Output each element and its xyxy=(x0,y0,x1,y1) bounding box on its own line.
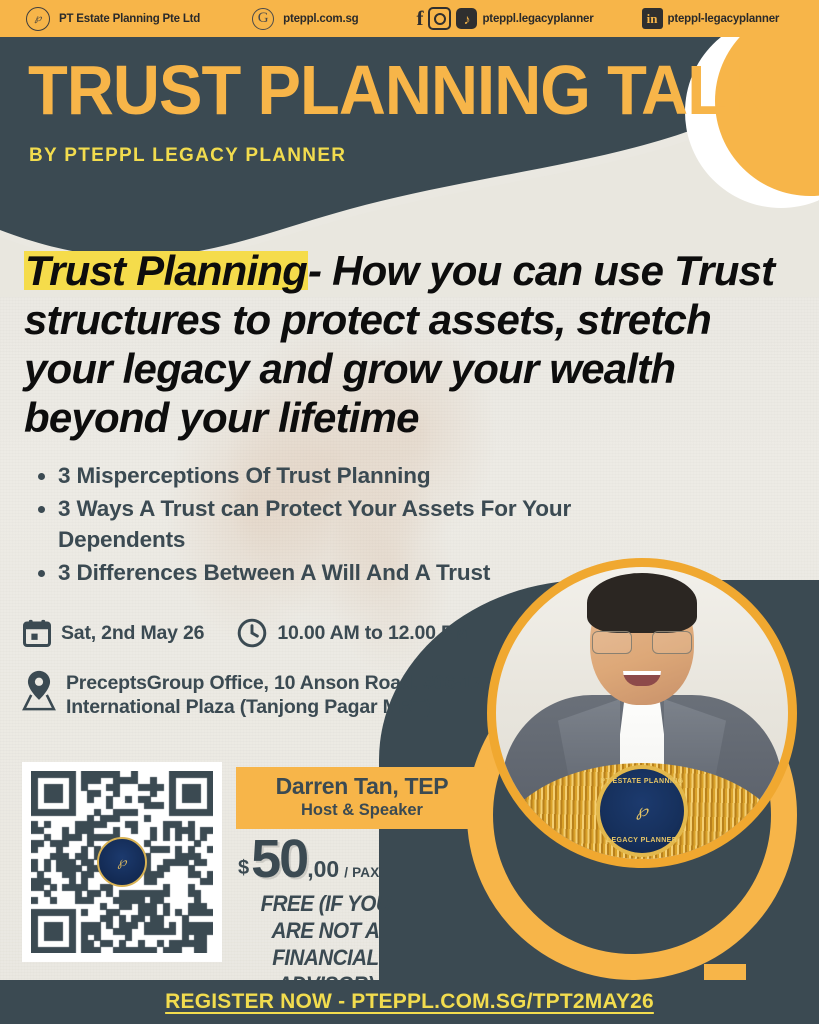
price-cents: ,00 xyxy=(307,858,339,886)
event-venue: PreceptsGroup Office, 10 Anson Road, #06… xyxy=(66,668,488,719)
price-currency: $ xyxy=(238,858,249,886)
speaker-photo: PT ESTATE PLANNING ℘ LEGACY PLANNER xyxy=(487,558,797,868)
social-item-linkedin[interactable]: in pteppl-legacyplanner xyxy=(642,8,780,29)
speaker-name-box: Darren Tan, TEP Host & Speaker xyxy=(236,767,488,829)
event-venue-line1: PreceptsGroup Office, 10 Anson Road, #06… xyxy=(66,668,488,695)
social-label-linkedin: pteppl-legacyplanner xyxy=(668,13,780,25)
company-seal-icon: ℘ xyxy=(26,7,50,31)
logo-monogram: ℘ xyxy=(636,801,648,821)
price-line: $ 50 ,00 / PAX xyxy=(238,832,458,886)
qr-logo-monogram: ℘ xyxy=(117,854,126,870)
qr-center-logo-icon: ℘ xyxy=(97,837,147,887)
event-time: 10.00 AM to 12.00 PM xyxy=(277,621,470,645)
registration-qr-code[interactable]: ℘ xyxy=(22,762,222,962)
headline: Trust Planning- How you can use Trust st… xyxy=(24,246,784,442)
tiktok-icon[interactable]: ♪ xyxy=(456,8,477,29)
event-date: Sat, 2nd May 26 xyxy=(61,621,204,645)
website-globe-icon: G xyxy=(252,8,274,30)
social-label-handles: pteppl.legacyplanner xyxy=(482,13,593,25)
event-datetime-row: Sat, 2nd May 26 10.00 AM to 12.00 PM xyxy=(22,617,470,649)
social-item-website[interactable]: G pteppl.com.sg xyxy=(252,8,358,30)
event-venue-line2: International Plaza (Tanjong Pagar MRT) xyxy=(66,695,488,719)
footer-bar: REGISTER NOW - PTEPPL.COM.SG/TPT2MAY26 xyxy=(0,980,819,1024)
logo-top-text: PT ESTATE PLANNING xyxy=(600,778,684,785)
legacy-planner-logo-icon: PT ESTATE PLANNING ℘ LEGACY PLANNER xyxy=(596,765,688,857)
social-item-social-handles[interactable]: f ♪ pteppl.legacyplanner xyxy=(416,6,593,31)
social-item-company[interactable]: ℘ PT Estate Planning Pte Ltd xyxy=(26,7,200,31)
linkedin-icon[interactable]: in xyxy=(642,8,663,29)
price-block: $ 50 ,00 / PAX FREE (IF YOU ARE NOT A FI… xyxy=(238,832,458,998)
speaker-name: Darren Tan, TEP xyxy=(246,773,478,800)
social-label-website: pteppl.com.sg xyxy=(283,13,358,25)
list-item: 3 Misperceptions Of Trust Planning xyxy=(58,460,618,491)
price-per-unit: / PAX xyxy=(344,866,379,887)
list-item: 3 Differences Between A Will And A Trust xyxy=(58,557,618,588)
clock-icon xyxy=(236,617,268,649)
instagram-icon[interactable] xyxy=(428,7,451,30)
facebook-icon[interactable]: f xyxy=(416,6,423,31)
event-location-row: PreceptsGroup Office, 10 Anson Road, #06… xyxy=(22,668,488,719)
headline-highlight: Trust Planning xyxy=(24,247,308,294)
map-pin-icon xyxy=(22,668,56,712)
calendar-icon xyxy=(22,618,52,648)
speaker-glasses xyxy=(592,631,692,653)
poster-title: TRUST PLANNING TALK xyxy=(28,52,772,128)
social-bar: ℘ PT Estate Planning Pte Ltd G pteppl.co… xyxy=(0,0,819,37)
price-amount: 50 xyxy=(251,832,307,886)
speaker-role: Host & Speaker xyxy=(246,800,478,821)
logo-bottom-text: LEGACY PLANNER xyxy=(600,837,684,844)
benefits-list: 3 Misperceptions Of Trust Planning 3 Way… xyxy=(32,460,618,590)
poster-subtitle: BY PTEPPL LEGACY PLANNER xyxy=(29,145,346,167)
poster-root: “ ℘ PT Estate Planning Pte Ltd G pteppl.… xyxy=(0,0,819,1024)
decorative-footer-tab xyxy=(704,964,746,980)
qr-grid: ℘ xyxy=(31,771,213,953)
register-link[interactable]: REGISTER NOW - PTEPPL.COM.SG/TPT2MAY26 xyxy=(165,990,654,1014)
social-label-company: PT Estate Planning Pte Ltd xyxy=(59,13,200,25)
list-item: 3 Ways A Trust can Protect Your Assets F… xyxy=(58,493,618,555)
